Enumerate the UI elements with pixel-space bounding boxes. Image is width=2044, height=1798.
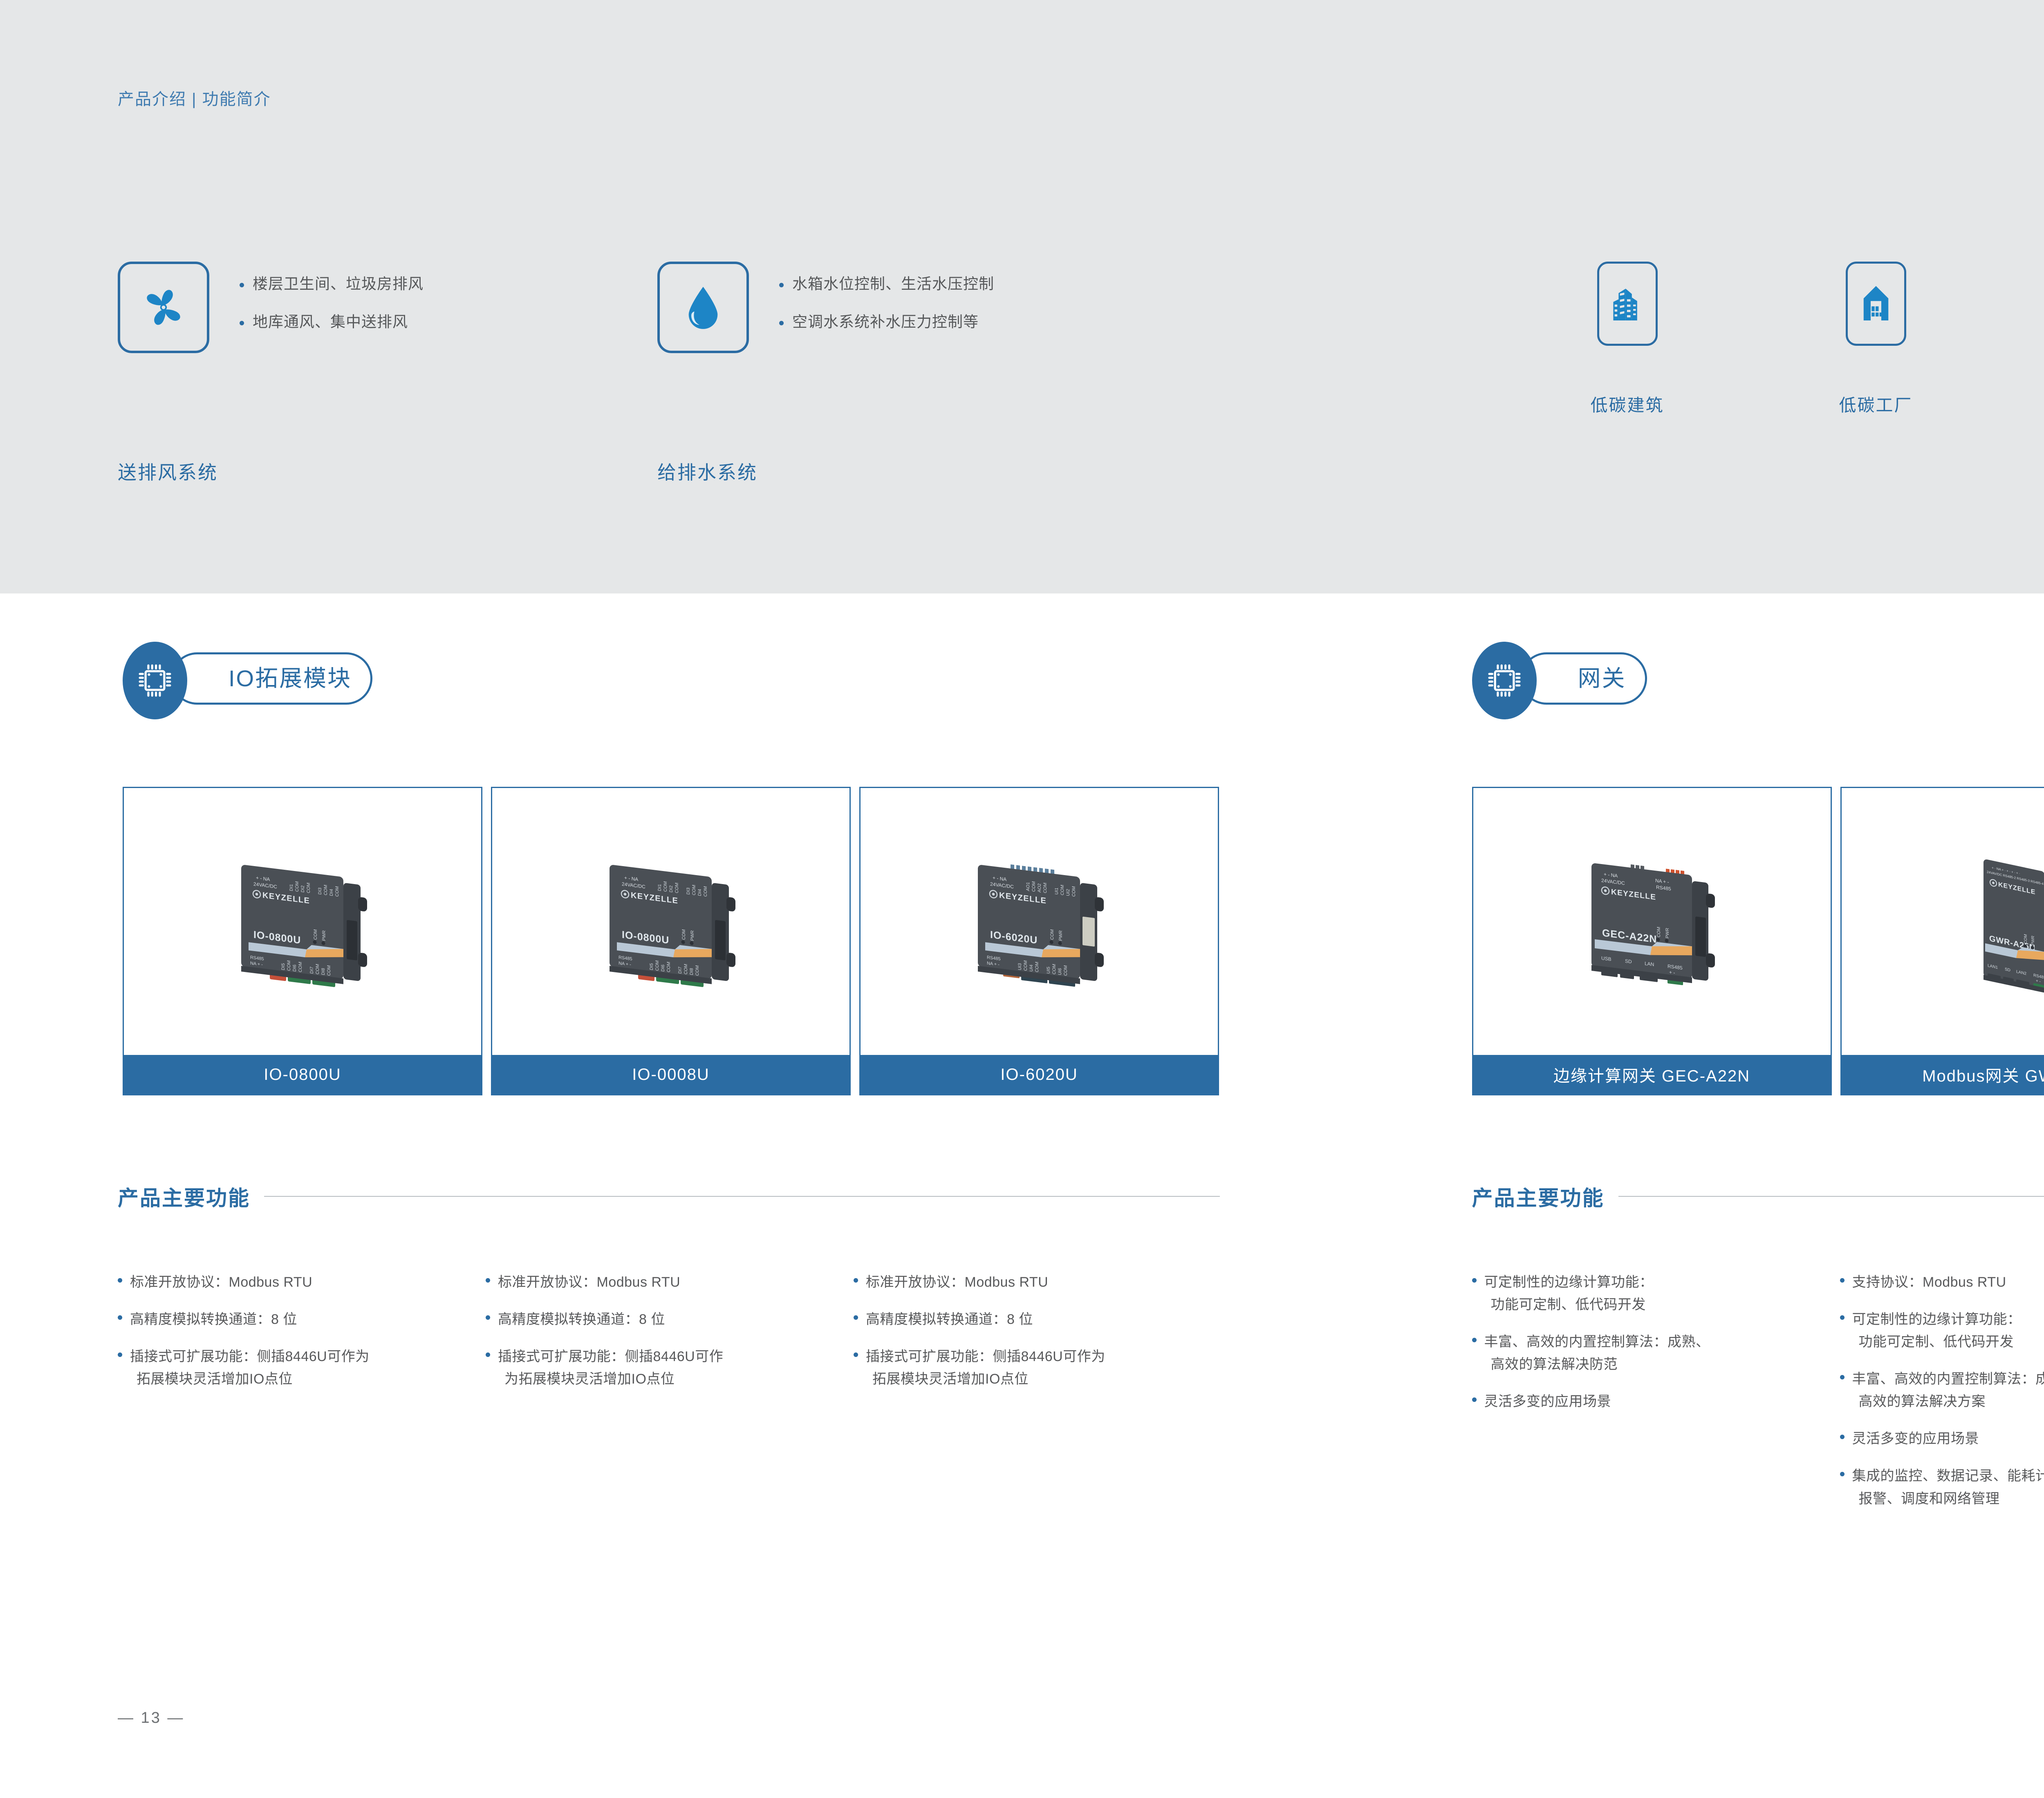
svg-text:DI5: DI5	[281, 963, 286, 970]
svg-text:COM: COM	[1060, 884, 1065, 896]
svg-text:COM: COM	[313, 929, 318, 940]
bullet-text: 地库通风、集中送排风	[253, 314, 408, 329]
product-card[interactable]: + · NA + · + · + · + · 24VAV/DC RS485-2 …	[1840, 787, 2044, 1095]
feature-column: 标准开放协议：Modbus RTU 高精度模拟转换通道：8 位 插接式可扩展功能…	[118, 1271, 486, 1405]
svg-text:UI4: UI4	[1029, 964, 1034, 972]
bullet-dot	[1840, 1278, 1845, 1283]
feature-bullet: 丰富、高效的内置控制算法：成熟、 高效的算法解决防范	[1472, 1331, 1840, 1376]
left-folio: — 13 —	[118, 1709, 184, 1727]
gateway-product-cards: + - NA 24VAC/DC NA + - RS485 KEYZELLE GE…	[1472, 787, 2044, 1095]
bullet-dot	[118, 1278, 122, 1283]
bullet-dot	[486, 1352, 490, 1357]
svg-text:COM: COM	[663, 881, 668, 892]
bullet-dot	[1472, 1338, 1477, 1342]
bullet-dot	[1840, 1472, 1845, 1476]
product-caption: IO-0800U	[124, 1055, 481, 1094]
bullet-text: 插接式可扩展功能：侧插8446U可作 为拓展模块灵活增加IO点位	[498, 1346, 723, 1390]
factory-icon	[1846, 262, 1906, 346]
features-heading-text: 产品主要功能	[118, 1181, 250, 1211]
svg-text:DI5: DI5	[649, 963, 654, 970]
feature-bullet: 标准开放协议：Modbus RTU	[486, 1271, 854, 1294]
svg-text:AO2: AO2	[1037, 883, 1042, 892]
svg-text:DI3: DI3	[686, 887, 691, 895]
feature-bullet: 可定制性的边缘计算功能： 功能可定制、低代码开发	[1840, 1308, 2044, 1353]
bullet-dot	[1840, 1435, 1845, 1439]
product-card[interactable]: + - NA 24VAC/DC DI1 COM DI2 COM DI3 COM …	[123, 787, 482, 1095]
application-caption-ventilation: 送排风系统	[118, 458, 218, 485]
bullet-text: 插接式可扩展功能：侧插8446U可作为 拓展模块灵活增加IO点位	[130, 1346, 370, 1390]
tile-low-carbon-factory: 低碳工厂	[1839, 262, 1913, 416]
svg-text:AO1: AO1	[1026, 882, 1031, 891]
svg-text:COM: COM	[287, 960, 291, 971]
bullet-text: 标准开放协议：Modbus RTU	[130, 1271, 312, 1294]
svg-text:LAN: LAN	[1645, 961, 1654, 967]
bullet-text: 标准开放协议：Modbus RTU	[866, 1271, 1048, 1294]
bullet-text: 丰富、高效的内置控制算法：成熟、 高效的算法解决防范	[1484, 1331, 1710, 1376]
svg-text:UI2: UI2	[1066, 889, 1071, 896]
feature-column: 可定制性的边缘计算功能： 功能可定制、低代码开发 丰富、高效的内置控制算法：成熟…	[1472, 1271, 1840, 1525]
bullet-text: 水箱水位控制、生活水压控制	[792, 276, 994, 291]
svg-text:COM: COM	[2024, 934, 2028, 944]
features-heading-text: 产品主要功能	[1472, 1181, 1605, 1211]
bullet-text: 标准开放协议：Modbus RTU	[498, 1271, 680, 1294]
svg-text:DI1: DI1	[289, 884, 294, 891]
feature-bullet: 集成的监控、数据记录、能耗计量、 报警、调度和网络管理	[1840, 1465, 2044, 1510]
svg-text:COM: COM	[1035, 961, 1040, 972]
water-bullets: 水箱水位控制、生活水压控制 空调水系统补水压力控制等	[779, 262, 994, 329]
features-heading-left: 产品主要功能	[118, 1181, 1220, 1211]
tile-label: 低碳建筑	[1591, 392, 1664, 416]
svg-text:COM: COM	[327, 965, 332, 976]
svg-text:COM: COM	[684, 963, 688, 974]
application-water: 水箱水位控制、生活水压控制 空调水系统补水压力控制等	[657, 262, 994, 353]
svg-text:COM: COM	[675, 882, 679, 893]
bullet-dot	[854, 1315, 858, 1320]
svg-text:PWR: PWR	[322, 930, 327, 941]
left-page: 产品介绍 | 功能简介 楼层卫生间、垃圾房排风	[0, 0, 1317, 1798]
svg-text:UI1: UI1	[1054, 887, 1059, 895]
bullet-text: 楼层卫生间、垃圾房排风	[253, 276, 424, 291]
svg-text:UI5: UI5	[1046, 966, 1051, 974]
bullet-dot	[486, 1278, 490, 1283]
feature-column: 支持协议：Modbus RTU 可定制性的边缘计算功能： 功能可定制、低代码开发…	[1840, 1271, 2044, 1525]
svg-text:DI7: DI7	[678, 966, 683, 974]
product-photo: + - NA 24VAC/DC DI1 COM DI2 COM DI3 COM …	[124, 788, 481, 1055]
svg-text:PWR: PWR	[2031, 935, 2035, 946]
office-building-icon	[1597, 262, 1658, 346]
chip-icon	[1472, 642, 1537, 719]
feature-bullet: 可定制性的边缘计算功能： 功能可定制、低代码开发	[1472, 1271, 1840, 1316]
bullet-item: 水箱水位控制、生活水压控制	[779, 276, 994, 291]
water-drop-icon	[657, 262, 749, 353]
svg-text:COM: COM	[315, 963, 320, 974]
section-badge-label: 网关	[1578, 667, 1626, 690]
bullet-item: 楼层卫生间、垃圾房排风	[240, 276, 424, 291]
svg-text:UI6: UI6	[1058, 967, 1062, 975]
tile-low-carbon-building: 低碳建筑	[1591, 262, 1664, 416]
svg-text:COM: COM	[655, 960, 660, 971]
bullet-text: 插接式可扩展功能：侧插8446U可作为 拓展模块灵活增加IO点位	[866, 1346, 1105, 1390]
bullet-text: 可定制性的边缘计算功能： 功能可定制、低代码开发	[1852, 1308, 2022, 1353]
svg-text:SD: SD	[1625, 958, 1632, 965]
bullet-text: 可定制性的边缘计算功能： 功能可定制、低代码开发	[1484, 1271, 1654, 1316]
bullet-dot	[118, 1352, 122, 1357]
application-ventilation: 楼层卫生间、垃圾房排风 地库通风、集中送排风	[118, 262, 424, 353]
feature-bullet: 高精度模拟转换通道：8 位	[486, 1308, 854, 1331]
bullet-item: 空调水系统补水压力控制等	[779, 314, 994, 329]
chip-icon	[123, 642, 187, 719]
svg-text:DI7: DI7	[309, 966, 314, 974]
bullet-dot	[1472, 1278, 1477, 1283]
svg-text:DI4: DI4	[697, 889, 702, 896]
svg-text:COM: COM	[1071, 886, 1076, 897]
svg-text:DI2: DI2	[300, 885, 305, 893]
svg-text:UI3: UI3	[1018, 963, 1022, 970]
features-heading-right: 产品主要功能	[1472, 1181, 2044, 1211]
product-caption: Modbus网关 GWR-A25N	[1842, 1055, 2044, 1094]
feature-column: 标准开放协议：Modbus RTU 高精度模拟转换通道：8 位 插接式可扩展功能…	[854, 1271, 1221, 1405]
feature-bullet: 支持协议：Modbus RTU	[1840, 1271, 2044, 1294]
bullet-text: 集成的监控、数据记录、能耗计量、 报警、调度和网络管理	[1852, 1465, 2044, 1510]
product-card[interactable]: + - NA 24VAC/DC NA + - RS485 KEYZELLE GE…	[1472, 787, 1832, 1095]
product-card[interactable]: + - NA 24VAC/DC AO1 COM AO2 COM UI1 COM …	[859, 787, 1219, 1095]
product-card[interactable]: + - NA 24VAC/DC DI1 COM DI2 COM DI3 COM …	[491, 787, 851, 1095]
bullet-dot	[118, 1315, 122, 1320]
bullet-dot	[486, 1315, 490, 1320]
product-photo: + - NA 24VAC/DC DI1 COM DI2 COM DI3 COM …	[492, 788, 849, 1055]
product-photo: + - NA 24VAC/DC AO1 COM AO2 COM UI1 COM …	[861, 788, 1218, 1055]
feature-bullet: 丰富、高效的内置控制算法：成熟、 高效的算法解决方案	[1840, 1368, 2044, 1413]
feature-bullet: 灵活多变的应用场景	[1472, 1390, 1840, 1413]
bullet-text: 支持协议：Modbus RTU	[1852, 1271, 2006, 1294]
feature-bullet: 插接式可扩展功能：侧插8446U可作 为拓展模块灵活增加IO点位	[486, 1346, 854, 1390]
svg-text:COM: COM	[1050, 929, 1055, 940]
svg-text:DI8: DI8	[321, 967, 326, 975]
svg-text:PWR: PWR	[690, 930, 695, 941]
feature-bullet: 插接式可扩展功能：侧插8446U可作为 拓展模块灵活增加IO点位	[118, 1346, 486, 1390]
svg-text:COM: COM	[1063, 965, 1068, 976]
tile-label: 低碳工厂	[1839, 392, 1913, 416]
features-columns-right: 可定制性的边缘计算功能： 功能可定制、低代码开发 丰富、高效的内置控制算法：成熟…	[1472, 1271, 2044, 1525]
bullet-item: 地库通风、集中送排风	[240, 314, 424, 329]
brochure-spread: 产品介绍 | 功能简介 楼层卫生间、垃圾房排风	[0, 0, 2044, 1798]
svg-text:COM: COM	[298, 961, 303, 972]
feature-bullet: 标准开放协议：Modbus RTU	[854, 1271, 1221, 1294]
bullet-text: 灵活多变的应用场景	[1484, 1390, 1611, 1413]
svg-text:COM: COM	[1043, 882, 1048, 893]
svg-text:DI6: DI6	[292, 964, 297, 972]
svg-text:COM: COM	[692, 884, 697, 896]
svg-text:DI2: DI2	[669, 885, 674, 893]
bullet-dot	[1840, 1375, 1845, 1379]
svg-text:DI8: DI8	[689, 967, 694, 975]
svg-text:DI3: DI3	[318, 887, 323, 895]
svg-text:PWR: PWR	[1665, 927, 1670, 938]
section-badge-io-modules: IO拓展模块	[123, 642, 187, 719]
bullet-dot	[854, 1352, 858, 1357]
product-caption: IO-6020U	[861, 1055, 1218, 1094]
bullet-dot	[240, 283, 244, 287]
right-page: 产品介绍 | 功能简介	[1317, 0, 2044, 1798]
svg-text:COM: COM	[666, 961, 671, 972]
feature-bullet: 标准开放协议：Modbus RTU	[118, 1271, 486, 1294]
section-badge-label: IO拓展模块	[229, 667, 352, 690]
fan-icon	[118, 262, 209, 353]
svg-text:DI1: DI1	[657, 884, 662, 891]
svg-text:COM: COM	[335, 886, 340, 897]
feature-bullet: 灵活多变的应用场景	[1840, 1428, 2044, 1450]
bullet-text: 高精度模拟转换通道：8 位	[130, 1308, 297, 1331]
feature-bullet: 高精度模拟转换通道：8 位	[854, 1308, 1221, 1331]
bullet-dot	[1840, 1315, 1845, 1320]
product-caption: 边缘计算网关 GEC-A22N	[1473, 1055, 1831, 1094]
left-running-head: 产品介绍 | 功能简介	[118, 86, 271, 110]
bullet-text: 高精度模拟转换通道：8 位	[498, 1308, 665, 1331]
svg-text:COM: COM	[323, 884, 328, 896]
product-photo: + - NA 24VAC/DC NA + - RS485 KEYZELLE GE…	[1473, 788, 1831, 1055]
application-caption-water: 给排水系统	[657, 458, 758, 485]
svg-text:COM: COM	[1031, 881, 1036, 892]
svg-text:DI4: DI4	[329, 889, 334, 896]
svg-text:COM: COM	[1656, 926, 1661, 937]
bullet-dot	[779, 321, 784, 325]
product-photo: + · NA + · + · + · + · 24VAV/DC RS485-2 …	[1842, 788, 2044, 1055]
bullet-text: 灵活多变的应用场景	[1852, 1428, 1979, 1450]
bullet-text: 丰富、高效的内置控制算法：成熟、 高效的算法解决方案	[1852, 1368, 2044, 1413]
features-columns-left: 标准开放协议：Modbus RTU 高精度模拟转换通道：8 位 插接式可扩展功能…	[118, 1271, 1221, 1405]
svg-text:COM: COM	[681, 929, 686, 940]
bullet-text: 高精度模拟转换通道：8 位	[866, 1308, 1033, 1331]
svg-text:COM: COM	[1052, 963, 1057, 974]
section-badge-pill: IO拓展模块	[171, 652, 372, 705]
svg-text:COM: COM	[306, 882, 311, 893]
heading-rule	[264, 1196, 1220, 1197]
section-badge-pill: 网关	[1520, 652, 1647, 705]
ventilation-bullets: 楼层卫生间、垃圾房排风 地库通风、集中送排风	[240, 262, 424, 329]
bullet-text: 空调水系统补水压力控制等	[792, 314, 979, 329]
feature-column: 标准开放协议：Modbus RTU 高精度模拟转换通道：8 位 插接式可扩展功能…	[486, 1271, 854, 1405]
bullet-dot	[854, 1278, 858, 1283]
product-caption: IO-0008U	[492, 1055, 849, 1094]
feature-bullet: 高精度模拟转换通道：8 位	[118, 1308, 486, 1331]
svg-text:COM: COM	[703, 886, 708, 897]
right-gray-band	[1317, 0, 2044, 593]
bullet-dot	[1472, 1397, 1477, 1402]
io-product-cards: + - NA 24VAC/DC DI1 COM DI2 COM DI3 COM …	[123, 787, 1219, 1095]
svg-text:COM: COM	[695, 965, 700, 976]
svg-text:DI6: DI6	[661, 964, 666, 972]
heading-rule	[1618, 1196, 2044, 1197]
svg-text:PWR: PWR	[1058, 930, 1063, 941]
bullet-dot	[779, 283, 784, 287]
svg-text:COM: COM	[295, 881, 300, 892]
bullet-dot	[240, 321, 244, 325]
svg-text:COM: COM	[1023, 960, 1028, 971]
feature-bullet: 插接式可扩展功能：侧插8446U可作为 拓展模块灵活增加IO点位	[854, 1346, 1221, 1390]
section-badge-gateway: 网关	[1472, 642, 1537, 719]
